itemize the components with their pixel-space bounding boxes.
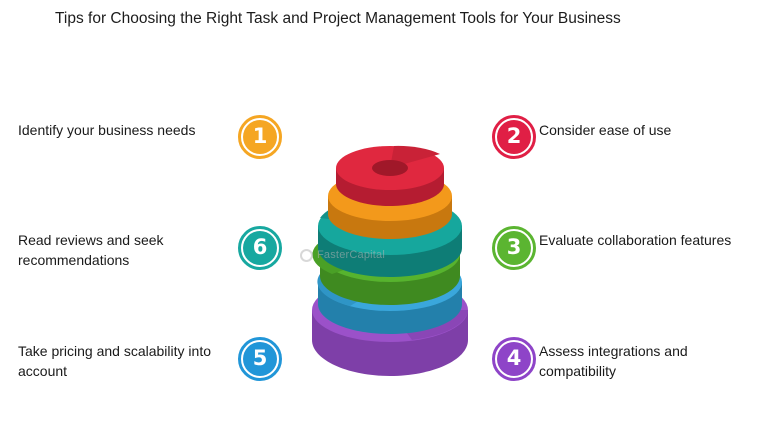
badge-number-5: 5: [253, 348, 268, 369]
step-badge-3[interactable]: 3: [492, 226, 536, 270]
step-badge-1[interactable]: 1: [238, 115, 282, 159]
step-badge-2[interactable]: 2: [492, 115, 536, 159]
badge-number-1: 1: [253, 126, 268, 147]
page-title: Tips for Choosing the Right Task and Pro…: [55, 8, 655, 30]
step-label-1: Identify your business needs: [18, 120, 223, 140]
step-badge-6[interactable]: 6: [238, 226, 282, 270]
step-label-3: Evaluate collaboration features: [539, 230, 754, 250]
badge-number-6: 6: [253, 237, 268, 258]
step-label-6: Read reviews and seek recommendations: [18, 230, 223, 271]
step-label-5: Take pricing and scalability into accoun…: [18, 341, 223, 382]
stacked-3d-spiral-graphic: [290, 132, 490, 397]
step-label-2: Consider ease of use: [539, 120, 754, 140]
badge-number-2: 2: [507, 126, 522, 147]
step-badge-4[interactable]: 4: [492, 337, 536, 381]
step-badge-5[interactable]: 5: [238, 337, 282, 381]
step-label-4: Assess integrations and compatibility: [539, 341, 754, 382]
badge-number-4: 4: [507, 348, 522, 369]
slide-canvas: Tips for Choosing the Right Task and Pro…: [0, 0, 768, 432]
layer-red: [336, 146, 444, 206]
badge-number-3: 3: [507, 237, 522, 258]
